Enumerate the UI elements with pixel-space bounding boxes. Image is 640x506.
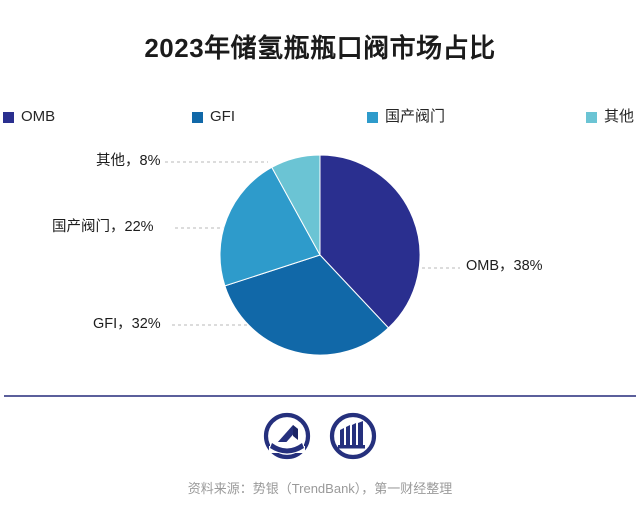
legend-label-domestic-valve: 国产阀门 [385, 107, 445, 127]
legend-swatch-domestic-valve [367, 112, 378, 123]
legend-swatch-omb [3, 112, 14, 123]
source-note: 资料来源：势银（TrendBank），第一财经整理 [0, 478, 640, 497]
chart-legend: OMB GFI 国产阀门 其他 [0, 106, 640, 130]
yicai-bars-logo [329, 412, 377, 460]
trendbank-diamond-logo [263, 412, 311, 460]
legend-item-gfi[interactable]: GFI [192, 106, 235, 128]
slice-label-omb: OMB，38% [466, 257, 543, 275]
footer-logos [0, 408, 640, 464]
pie-slices [220, 155, 420, 355]
legend-swatch-gfi [192, 112, 203, 123]
pie-chart-svg [0, 140, 640, 370]
chart-card: 2023年储氢瓶瓶口阀市场占比 OMB GFI 国产阀门 其他 [0, 0, 640, 506]
pie-chart-area: 其他，8% 国产阀门，22% GFI，32% OMB，38% [0, 140, 640, 370]
legend-item-other[interactable]: 其他 [586, 106, 634, 128]
footer-divider [4, 395, 636, 397]
legend-swatch-other [586, 112, 597, 123]
legend-label-omb: OMB [21, 107, 55, 127]
legend-label-other: 其他 [604, 107, 634, 127]
slice-label-domestic-valve: 国产阀门，22% [52, 218, 154, 236]
slice-label-other: 其他，8% [96, 152, 160, 170]
legend-item-omb[interactable]: OMB [3, 106, 55, 128]
slice-label-gfi: GFI，32% [93, 315, 161, 333]
legend-label-gfi: GFI [210, 107, 235, 127]
page-title: 2023年储氢瓶瓶口阀市场占比 [0, 32, 640, 64]
legend-item-domestic-valve[interactable]: 国产阀门 [367, 106, 445, 128]
